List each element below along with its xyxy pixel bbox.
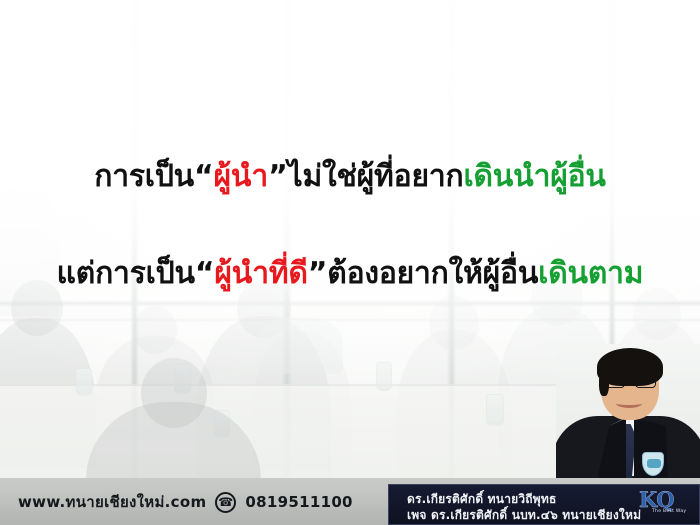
poster: การเป็น“ผู้นำ”ไม่ใช่ผู้ที่อยากเดินนำผู้อ… <box>0 0 700 525</box>
quote-segment-highlight: ผู้นำที่ดี <box>214 256 307 291</box>
kq-logo: KQ The Best Way <box>639 489 693 519</box>
footer-credit-bar: ดร.เกียรติศักดิ์ ทนายวิถีพุทธ เพจ ดร.เกี… <box>388 484 700 525</box>
website-url[interactable]: www.ทนายเชียงใหม่.com <box>18 490 206 514</box>
quote-line-2: แต่การเป็น“ผู้นำที่ดี”ต้องอยากให้ผู้อื่น… <box>0 250 700 297</box>
quote-line-1: การเป็น“ผู้นำ”ไม่ใช่ผู้ที่อยากเดินนำผู้อ… <box>0 153 700 200</box>
quote-segment: แต่การเป็น <box>57 256 195 291</box>
quote-close-quote: ” <box>308 256 328 291</box>
quote-segment: ไม่ใช่ผู้ที่อยาก <box>288 159 464 194</box>
portrait-hair <box>597 348 663 386</box>
credit-line-2: เพจ ดร.เกียรติศักดิ์ นบท.๔๖ ทนายเชียงใหม… <box>407 506 641 525</box>
footer-contact: www.ทนายเชียงใหม่.com ☎ 0819511100 <box>18 490 353 514</box>
quote-segment: ต้องอยากให้ผู้อื่น <box>327 256 538 291</box>
portrait-photo <box>556 344 700 485</box>
quote-segment-accent: เดินตาม <box>538 256 643 291</box>
quote-segment-highlight: ผู้นำ <box>214 159 269 194</box>
phone-in-circle-icon: ☎ <box>215 492 236 513</box>
phone-number[interactable]: 0819511100 <box>245 493 352 511</box>
quote-open-quote: “ <box>194 159 214 194</box>
portrait-smile <box>616 399 642 408</box>
quote-segment: การเป็น <box>94 159 194 194</box>
kq-logo-subtext: The Best Way <box>652 509 686 514</box>
kq-logo-text: KQ <box>639 489 674 511</box>
quote-open-quote: “ <box>195 256 215 291</box>
quote-close-quote: ” <box>268 159 288 194</box>
quote-segment-accent: เดินนำผู้อื่น <box>463 159 605 194</box>
